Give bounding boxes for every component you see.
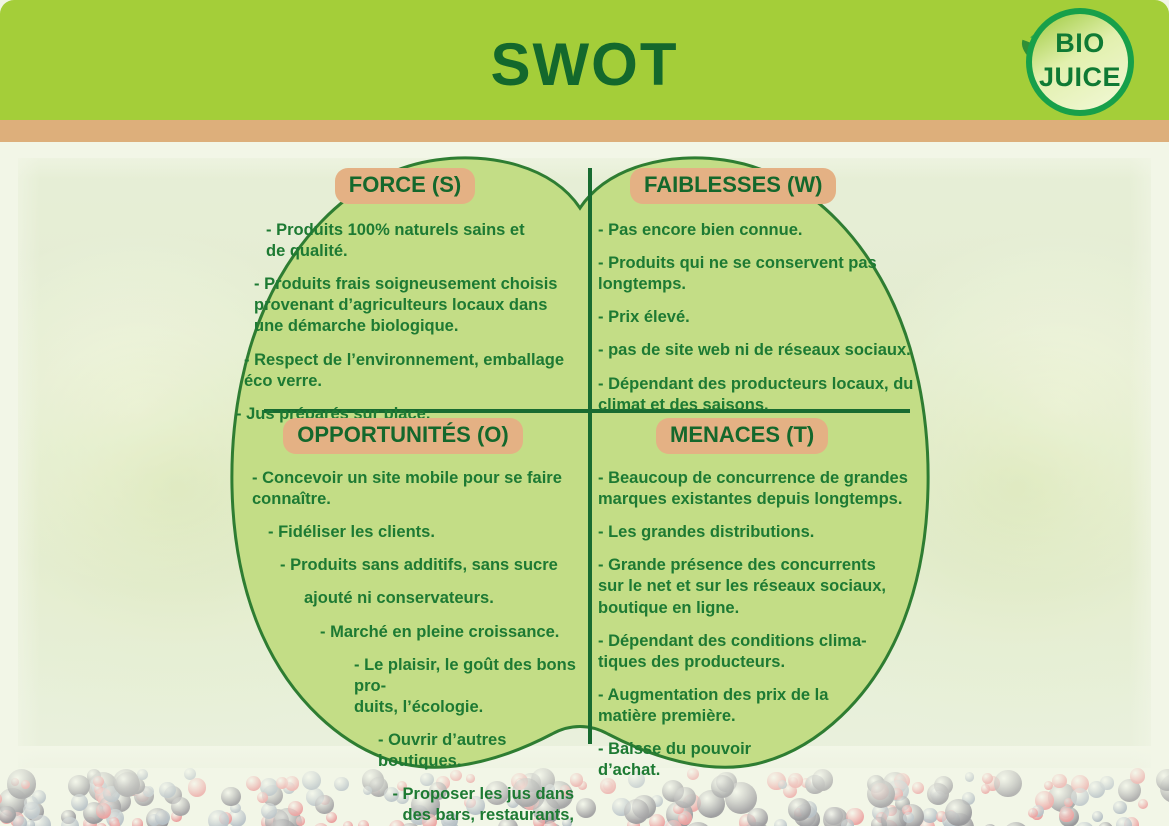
berry-decoration — [171, 797, 190, 816]
berry-decoration — [155, 810, 170, 825]
quadrant-weaknesses-list: - Pas encore bien connue. - Produits qui… — [598, 220, 918, 416]
berry-decoration — [965, 772, 975, 782]
berry-decoration — [747, 808, 768, 826]
logo-text-juice: JUICE — [1026, 62, 1134, 93]
list-item: - Concevoir un site mobile pour se faire… — [236, 468, 580, 510]
berry-decoration — [1003, 822, 1029, 826]
berry-decoration — [21, 780, 30, 789]
quadrant-strengths: FORCE (S) - Produits 100% naturels sains… — [236, 168, 580, 437]
quadrant-threats-badge: MENACES (T) — [656, 418, 828, 454]
background-fade-right — [1129, 142, 1169, 826]
berry-decoration — [841, 819, 854, 826]
list-item: - Pas encore bien connue. — [598, 220, 918, 241]
list-item: - Augmentation des prix de la matière pr… — [598, 685, 918, 727]
list-item: - Produits frais soigneusement choisis p… — [236, 274, 580, 337]
list-item: - pas de site web ni de réseaux sociaux. — [598, 340, 918, 361]
list-item: ajouté ni conservateurs. — [236, 588, 580, 609]
vertical-divider — [588, 168, 592, 744]
quadrant-threats: MENACES (T) - Beaucoup de concurrence de… — [598, 418, 918, 793]
logo-text-bio: BIO — [1026, 28, 1134, 59]
berry-decoration — [1098, 822, 1113, 826]
berry-decoration — [1071, 788, 1089, 806]
berry-decoration — [788, 798, 811, 821]
page-title: SWOT — [0, 30, 1169, 99]
berry-decoration — [624, 799, 649, 824]
quadrant-opportunities: OPPORTUNITÉS (O) - Concevoir un site mob… — [236, 418, 580, 826]
list-item: - Dépendant des conditions clima- tiques… — [598, 631, 918, 673]
list-item: - Les grandes distributions. — [598, 522, 918, 543]
list-item: - Produits sans additifs, sans sucre — [236, 555, 580, 576]
berry-decoration — [1113, 801, 1126, 814]
berry-decoration — [26, 820, 35, 826]
tan-divider-band — [0, 120, 1169, 142]
list-item: - Ouvrir d’autres boutiques. — [236, 730, 580, 772]
berry-decoration — [1075, 822, 1094, 826]
berry-decoration — [96, 803, 112, 819]
quadrant-opportunities-badge: OPPORTUNITÉS (O) — [283, 418, 522, 454]
quadrant-threats-badge-wrap: MENACES (T) — [598, 418, 918, 454]
list-item: - Respect de l’environnement, emballage … — [236, 350, 580, 392]
berry-decoration — [1059, 808, 1073, 822]
berry-decoration — [13, 816, 27, 826]
background-fade-left — [0, 142, 40, 826]
berry-decoration — [1130, 768, 1145, 783]
berry-decoration — [1092, 811, 1103, 822]
quadrant-threats-list: - Beaucoup de concurrence de grandes mar… — [598, 468, 918, 781]
quadrant-weaknesses: FAIBLESSES (W) - Pas encore bien connue.… — [598, 168, 918, 428]
berry-decoration — [132, 818, 143, 826]
list-item: - Produits qui ne se conservent pas long… — [598, 253, 918, 295]
quadrant-strengths-list: - Produits 100% naturels sains et de qua… — [236, 220, 580, 425]
berry-decoration — [71, 794, 88, 811]
berry-decoration — [61, 817, 79, 826]
berry-decoration — [159, 782, 175, 798]
bio-juice-logo: BIO JUICE — [1000, 6, 1148, 118]
quadrant-opportunities-list: - Concevoir un site mobile pour se faire… — [236, 468, 580, 826]
quadrant-opportunities-badge-wrap: OPPORTUNITÉS (O) — [236, 418, 580, 454]
berry-decoration — [1156, 769, 1169, 791]
quadrant-strengths-badge: FORCE (S) — [335, 168, 475, 204]
berry-decoration — [1100, 776, 1113, 789]
list-item: - Baisse du pouvoir d’achat. — [598, 739, 918, 781]
berry-decoration — [143, 786, 154, 797]
berry-decoration — [115, 772, 141, 798]
header-bar: SWOT BIO JUICE — [0, 0, 1169, 120]
berry-decoration — [678, 814, 687, 823]
list-item: - Dépendant des producteurs locaux, du c… — [598, 374, 918, 416]
berry-decoration — [903, 812, 915, 824]
berry-decoration — [945, 799, 972, 826]
berry-decoration — [1138, 799, 1148, 809]
quadrant-weaknesses-badge-wrap: FAIBLESSES (W) — [598, 168, 918, 204]
list-item: - Prix élevé. — [598, 307, 918, 328]
berry-decoration — [1052, 774, 1067, 789]
list-item: - Grande présence des concurrents sur le… — [598, 555, 918, 618]
quadrant-strengths-badge-wrap: FORCE (S) — [236, 168, 580, 204]
berry-decoration — [188, 778, 206, 796]
list-item: - Fidéliser les clients. — [236, 522, 580, 543]
berry-decoration — [927, 783, 949, 805]
berry-decoration — [774, 819, 788, 826]
berry-decoration — [208, 810, 229, 826]
list-item: - Beaucoup de concurrence de grandes mar… — [598, 468, 918, 510]
berry-decoration — [994, 770, 1022, 798]
berry-decoration — [1116, 817, 1132, 826]
list-item: - Proposer les jus dans des bars, restau… — [236, 784, 580, 826]
list-item: - Le plaisir, le goût des bons pro- duit… — [236, 655, 580, 718]
berry-decoration — [981, 784, 990, 793]
list-item: - Marché en pleine croissance. — [236, 622, 580, 643]
swot-infographic: FORCE (S) - Produits 100% naturels sains… — [0, 0, 1169, 826]
list-item: - Produits 100% naturels sains et de qua… — [236, 220, 580, 262]
quadrant-weaknesses-badge: FAIBLESSES (W) — [630, 168, 836, 204]
